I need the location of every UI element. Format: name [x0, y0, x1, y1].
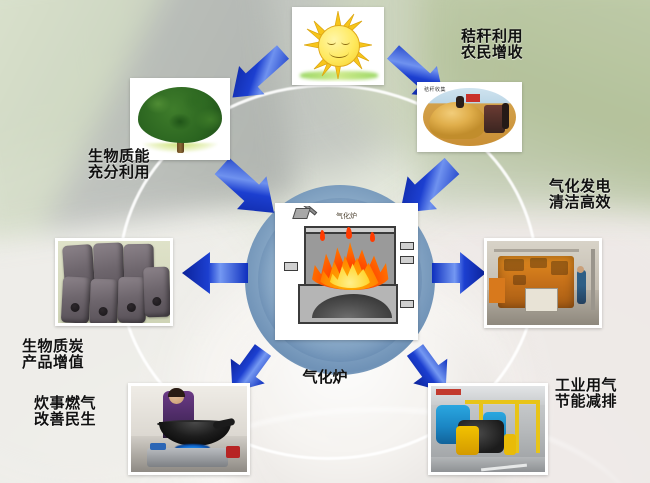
generator-worker: [577, 270, 586, 304]
briquette: [61, 276, 91, 323]
generator-ceiling-pipe: [494, 249, 579, 252]
gasifier-ash-pile: [312, 294, 392, 318]
boiler-yellow-rail: [465, 400, 540, 404]
sun-image: [292, 7, 384, 85]
straw-post: [456, 96, 464, 108]
briquette: [89, 279, 119, 323]
caption-center-gasifier: 气化炉: [0, 366, 650, 387]
gasifier-right-nozzle: [400, 300, 414, 308]
arrow-center-to-biochar: [182, 252, 248, 294]
generator-vertical-pipe: [591, 249, 595, 309]
boiler-red-sign: [436, 389, 461, 396]
gasifier-body: [296, 226, 402, 326]
straw-oval-vignette: [423, 88, 516, 146]
biochar-image: [55, 238, 173, 326]
caption-power-generation: 气化发电 清洁高效: [549, 178, 611, 210]
arrow-sun-to-tree: [220, 38, 296, 112]
tree-canopy: [138, 87, 222, 143]
flame-spark: [320, 230, 325, 241]
briquette: [143, 267, 170, 318]
sun-eye-right: [341, 39, 350, 45]
kitchen-blue-item: [150, 443, 166, 450]
gasifier-image: 气化炉: [275, 203, 418, 340]
kitchen-red-item: [226, 446, 240, 458]
straw-image: 秸秆收集: [417, 82, 522, 152]
caption-cooking-gas: 炊事燃气 改善民生: [34, 395, 96, 427]
generator-image: [484, 238, 602, 328]
straw-worker: [502, 103, 509, 129]
arrow-center-to-generator: [432, 252, 486, 294]
straw-flag: [466, 94, 480, 102]
straw-image-caption: 秸秆收集: [424, 86, 446, 93]
gasifier-right-nozzle: [400, 256, 414, 264]
gas-stove: [147, 448, 228, 467]
caption-straw: 秸秆利用 农民增收: [461, 28, 523, 60]
caption-biomass: 生物质能 充分利用: [88, 148, 150, 180]
boiler-yellow-post: [536, 400, 540, 453]
gasifier-left-nozzle: [284, 262, 298, 271]
flame-spark: [370, 232, 375, 242]
boiler-burner: [456, 426, 479, 455]
briquette: [118, 277, 147, 323]
sun-face: [318, 25, 360, 67]
boiler-image: [428, 383, 548, 475]
generator-control-panel: [525, 288, 558, 312]
caption-center-gasifier-text: 气化炉: [302, 366, 347, 387]
generator-side-box: [489, 278, 505, 303]
gasifier-right-nozzle: [400, 242, 414, 250]
cooking-image: [128, 383, 250, 475]
sun-eye-left: [327, 39, 336, 45]
diagram-canvas: 秸秆收集 气化炉: [0, 0, 650, 483]
gasifier-lower-chamber: [298, 284, 398, 324]
boiler-burner: [504, 434, 517, 455]
sun-smile: [329, 46, 349, 58]
